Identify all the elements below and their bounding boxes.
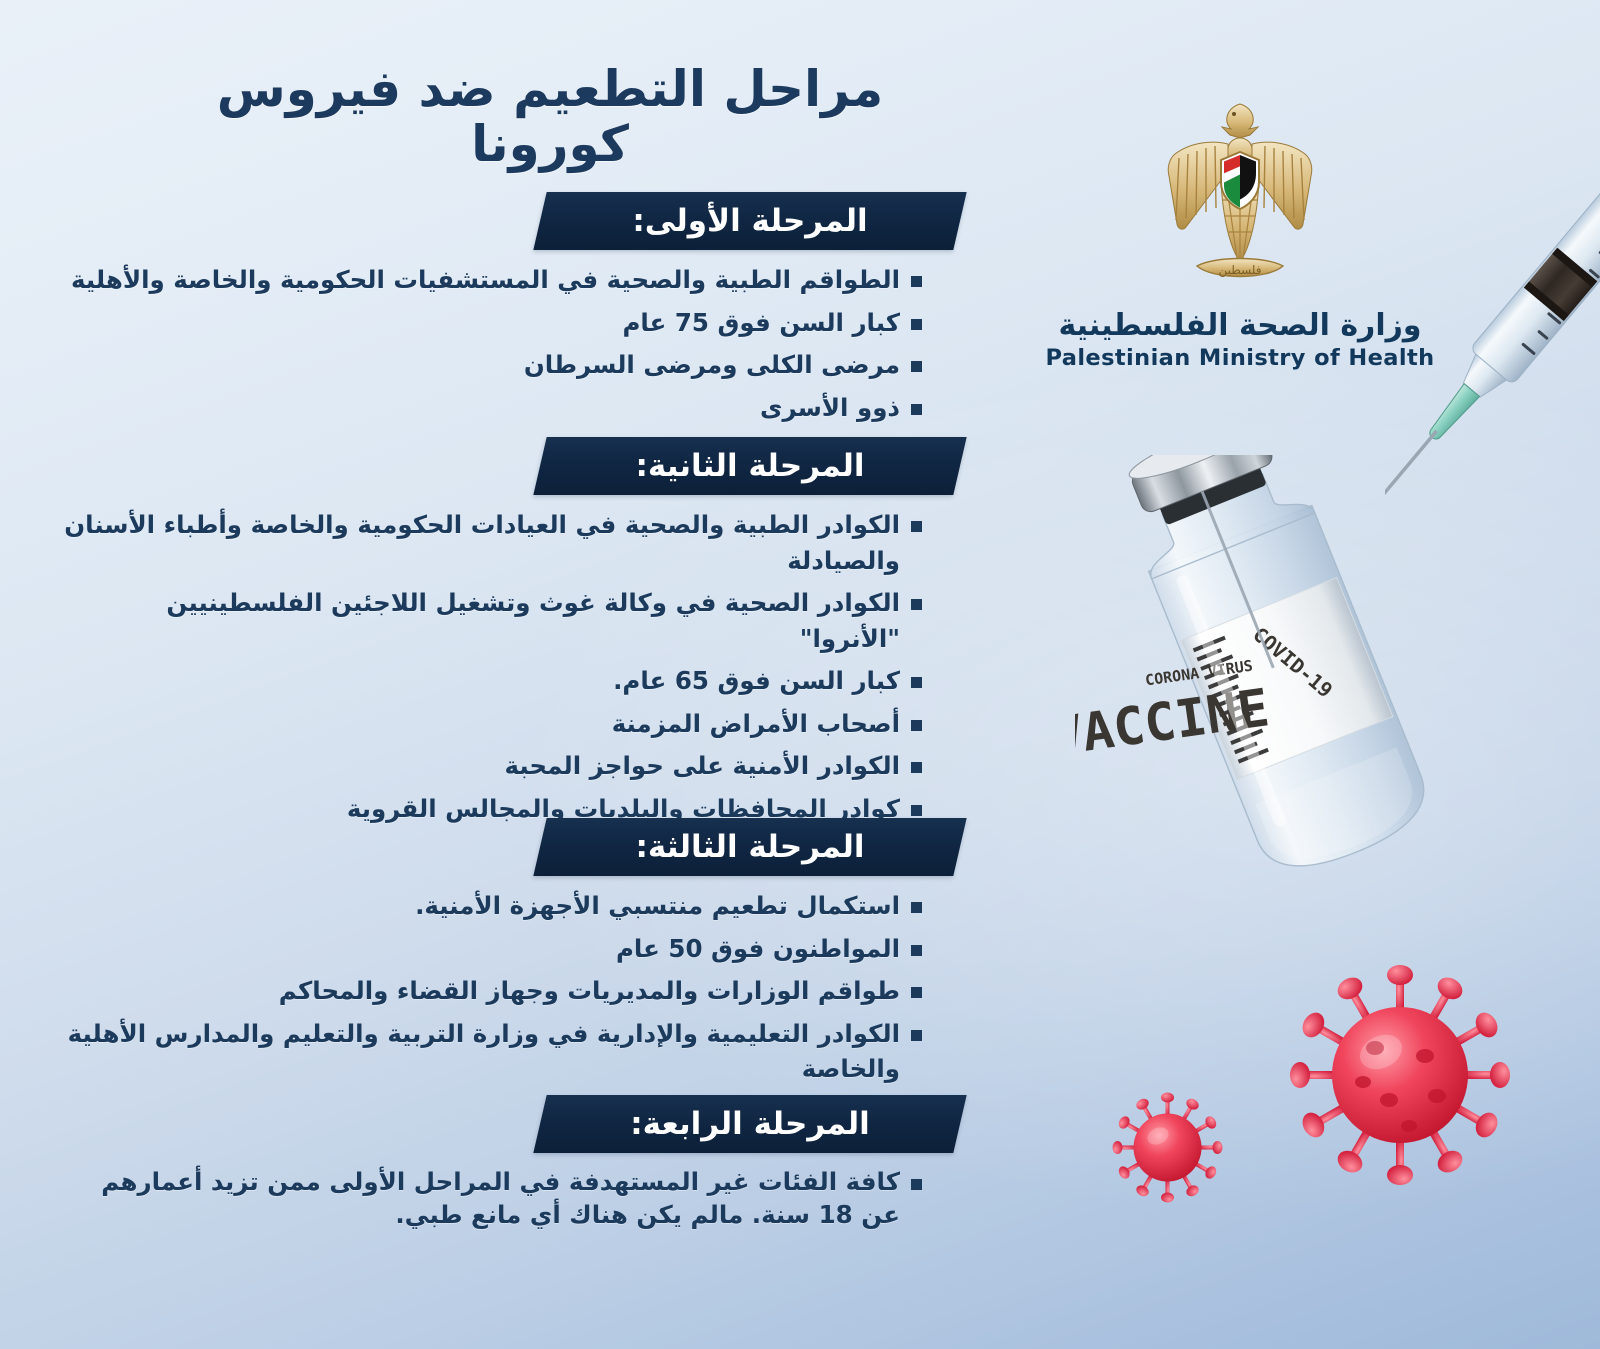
phase-section-1: المرحلة الأولى: الطواقم الطبية والصحية ف… <box>0 192 980 432</box>
ministry-name-en: Palestinian Ministry of Health <box>1020 345 1460 371</box>
list-item: الطواقم الطبية والصحية في المستشفيات الح… <box>60 262 930 298</box>
list-item: كبار السن فوق 75 عام <box>60 305 930 341</box>
phase-section-3: المرحلة الثالثة: استكمال تطعيم منتسبي ال… <box>0 818 980 1136</box>
vial-label-vaccine: VACCINE <box>1075 678 1273 768</box>
phase-banner-label-4: المرحلة الرابعة: <box>540 1095 960 1153</box>
content-column: مراحل التطعيم ضد فيروس كورونا المرحلة ال… <box>0 0 980 1349</box>
list-item: كبار السن فوق 65 عام. <box>60 663 930 699</box>
list-item: ذوو الأسرى <box>60 390 930 426</box>
phase-banner-1: المرحلة الأولى: <box>0 192 980 250</box>
phase-item-list-1: الطواقم الطبية والصحية في المستشفيات الح… <box>0 262 980 425</box>
list-item: المواطنون فوق 50 عام <box>60 931 930 967</box>
phase-banner-3: المرحلة الثالثة: <box>0 818 980 876</box>
list-item: الكوادر الطبية والصحية في العيادات الحكو… <box>60 507 930 578</box>
vaccine-vial-icon: CORONA VIRUS VACCINE COVID-19 <box>1075 455 1495 925</box>
list-item: طواقم الوزارات والمديريات وجهاز القضاء و… <box>60 973 930 1009</box>
coronavirus-particle-icon <box>1285 960 1515 1190</box>
list-item: أصحاب الأمراض المزمنة <box>60 706 930 742</box>
ministry-brand: فلسطين وزارة الصحة الفلسطينية Palestinia… <box>1020 96 1460 371</box>
list-item: الكوادر الصحية في وكالة غوث وتشغيل اللاج… <box>60 585 930 656</box>
phase-section-2: المرحلة الثانية: الكوادر الطبية والصحية … <box>0 437 980 876</box>
svg-text:فلسطين: فلسطين <box>1218 263 1261 278</box>
phase-item-list-4: كافة الفئات غير المستهدفة في المراحل الأ… <box>0 1165 980 1231</box>
vial-label-corona-virus: CORONA VIRUS <box>1144 657 1254 690</box>
phase-section-4: المرحلة الرابعة: كافة الفئات غير المستهد… <box>0 1095 980 1238</box>
phase-banner-2: المرحلة الثانية: <box>0 437 980 495</box>
list-item: الكوادر التعليمية والإدارية في وزارة الت… <box>60 1016 930 1087</box>
coronavirus-particle-icon <box>1110 1090 1225 1205</box>
phase-banner-label-2: المرحلة الثانية: <box>540 437 960 495</box>
vial-label-covid19: COVID-19 <box>1248 622 1337 702</box>
list-item: كافة الفئات غير المستهدفة في المراحل الأ… <box>60 1165 930 1231</box>
infographic-canvas: مراحل التطعيم ضد فيروس كورونا المرحلة ال… <box>0 0 1600 1349</box>
phase-item-list-2: الكوادر الطبية والصحية في العيادات الحكو… <box>0 507 980 869</box>
phase-banner-4: المرحلة الرابعة: <box>0 1095 980 1153</box>
phase-banner-label-3: المرحلة الثالثة: <box>540 818 960 876</box>
palestinian-eagle-emblem-icon: فلسطين <box>1155 96 1325 296</box>
ministry-name-ar: وزارة الصحة الفلسطينية <box>1020 308 1460 343</box>
list-item: الكوادر الأمنية على حواجز المحبة <box>60 748 930 784</box>
phase-item-list-3: استكمال تطعيم منتسبي الأجهزة الأمنية. ال… <box>0 888 980 1129</box>
phase-banner-label-1: المرحلة الأولى: <box>540 192 960 250</box>
list-item: مرضى الكلى ومرضى السرطان <box>60 347 930 383</box>
list-item: استكمال تطعيم منتسبي الأجهزة الأمنية. <box>60 888 930 924</box>
page-title: مراحل التطعيم ضد فيروس كورونا <box>160 62 940 172</box>
